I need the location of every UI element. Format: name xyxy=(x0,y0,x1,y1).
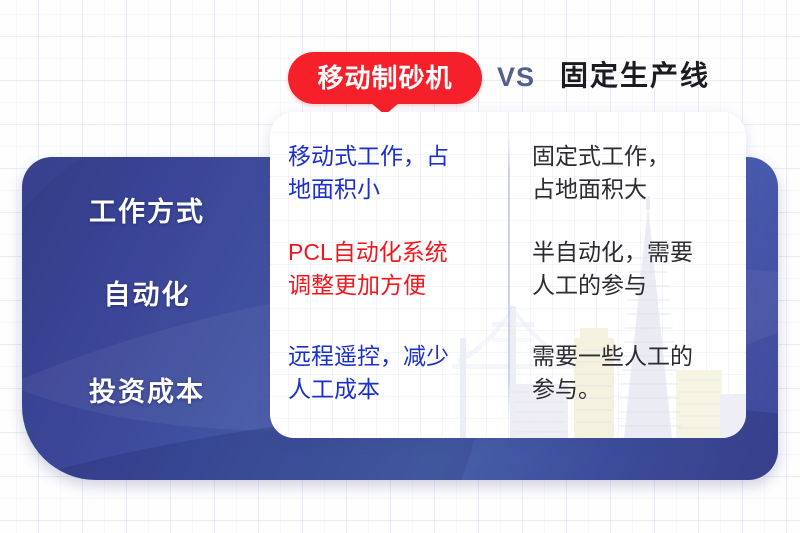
badge-label: 移动制砂机 xyxy=(317,65,452,91)
vs-label: VS xyxy=(497,64,535,91)
column-fixed-production-line: 固定式工作， 占地面积大 半自动化，需要 人工的参与 需要一些人工的 参与。 xyxy=(508,112,746,438)
cell-mobile-automation: PCL自动化系统 调整更加方便 xyxy=(288,236,510,302)
comparison-card: 移动式工作，占 地面积小 PCL自动化系统 调整更加方便 远程遥控，减少 人工成… xyxy=(270,112,746,438)
infographic-canvas: 移动制砂机 VS 固定生产线 工作方式 自动化 投资成本 xyxy=(0,0,800,533)
cell-fixed-investment-cost: 需要一些人工的 参与。 xyxy=(532,340,746,406)
category-label-work-mode: 工作方式 xyxy=(22,199,272,226)
header: 移动制砂机 VS 固定生产线 xyxy=(0,26,800,88)
cell-mobile-investment-cost: 远程遥控，减少 人工成本 xyxy=(288,340,510,406)
badge-pill: 移动制砂机 xyxy=(288,52,482,104)
fixed-production-line-title: 固定生产线 xyxy=(560,62,710,90)
category-label-column: 工作方式 自动化 投资成本 xyxy=(22,157,272,480)
cell-fixed-automation: 半自动化，需要 人工的参与 xyxy=(532,236,746,302)
category-label-automation: 自动化 xyxy=(22,282,272,309)
category-label-investment-cost: 投资成本 xyxy=(22,379,272,406)
column-mobile-sand-maker: 移动式工作，占 地面积小 PCL自动化系统 调整更加方便 远程遥控，减少 人工成… xyxy=(270,112,508,438)
cell-mobile-work-mode: 移动式工作，占 地面积小 xyxy=(288,140,510,206)
cell-fixed-work-mode: 固定式工作， 占地面积大 xyxy=(532,140,746,206)
mobile-sand-maker-badge: 移动制砂机 xyxy=(288,52,482,104)
